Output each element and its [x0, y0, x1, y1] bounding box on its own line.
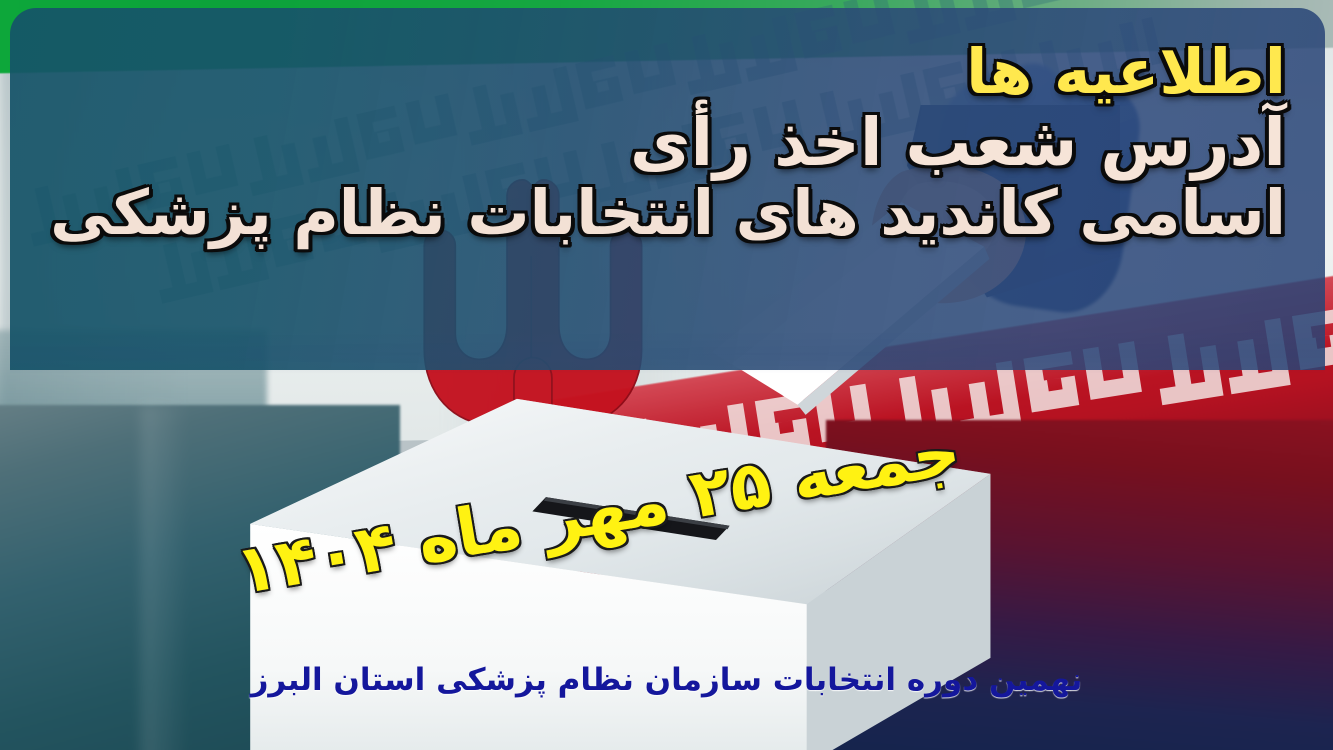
headline-block: اطلاعیه ها آدرس شعب اخذ رأی اسامی کاندید…: [0, 14, 1320, 244]
headline-candidate-names: اسامی کاندید های انتخابات نظام پزشکی: [20, 181, 1286, 244]
headline-overlay-panel-fade: [10, 330, 1325, 374]
election-announcement-poster: اطلاعیه ها آدرس شعب اخذ رأی اسامی کاندید…: [0, 0, 1333, 750]
headline-announcements: اطلاعیه ها: [20, 40, 1286, 103]
headline-polling-station-addresses: آدرس شعب اخذ رأی: [20, 109, 1286, 176]
poster-caption: نهمین دوره انتخابات سازمان نظام پزشکی اس…: [0, 662, 1333, 698]
